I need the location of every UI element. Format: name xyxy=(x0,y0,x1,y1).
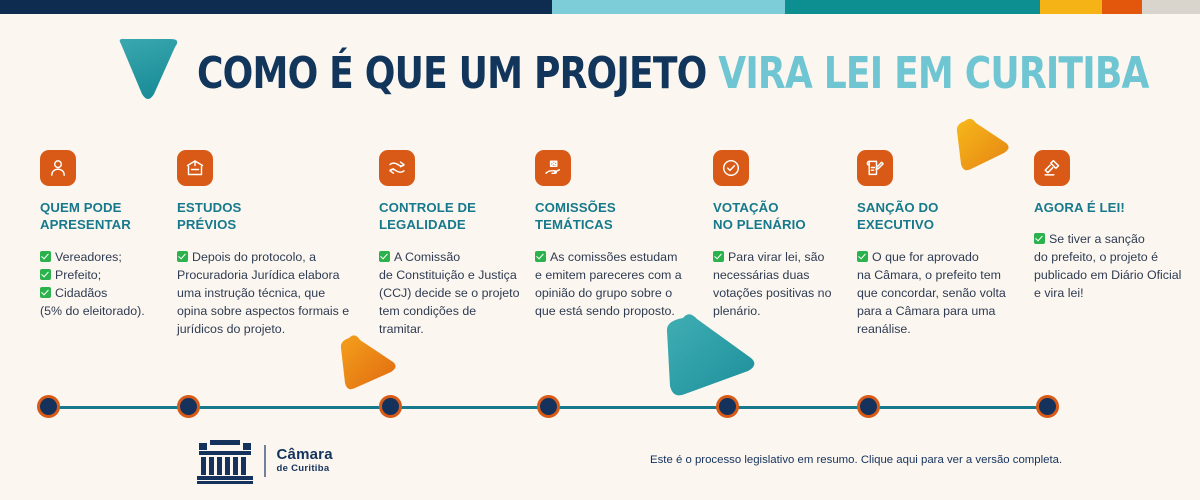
step-title-1: QUEM PODE APRESENTAR xyxy=(40,199,168,234)
topbar-segment-orange xyxy=(1102,0,1142,14)
page-title: COMO É QUE UM PROJETO VIRA LEI EM CURITI… xyxy=(197,52,1149,96)
step-body-5: Para virar lei, sãonecessárias duas vota… xyxy=(713,249,841,321)
step-body-1: Vereadores;Prefeito;Cidadãos (5% do elei… xyxy=(40,249,168,321)
footer-note[interactable]: Este é o processo legislativo em resumo.… xyxy=(650,454,1062,466)
camara-building-icon xyxy=(197,437,253,485)
check-icon xyxy=(535,251,546,262)
step-bullet: Prefeito; xyxy=(40,267,168,285)
topbar-segment-navy xyxy=(0,0,552,14)
step-body-continuation: necessárias duas votações positivas no p… xyxy=(713,267,841,321)
top-color-bar xyxy=(0,0,1200,14)
step-body-6: O que for aprovadona Câmara, o prefeito … xyxy=(857,249,1017,339)
timeline-dot-4 xyxy=(537,395,560,418)
scales-handshake-icon xyxy=(379,150,415,186)
page-title-part1: COMO É QUE UM PROJETO xyxy=(197,48,706,99)
step-bullet: As comissões estudam xyxy=(535,249,695,267)
step-bullet-text: Depois do protocolo, a xyxy=(192,250,316,264)
timeline-dot-5 xyxy=(716,395,739,418)
step-body-continuation: de Constituição e Justiça (CCJ) decide s… xyxy=(379,267,521,339)
timeline-dot-2 xyxy=(177,395,200,418)
step-bullet: Se tiver a sanção xyxy=(1034,231,1184,249)
check-icon xyxy=(1034,233,1045,244)
step-body-7: Se tiver a sançãodo prefeito, o projeto … xyxy=(1034,231,1184,303)
topbar-segment-light-teal xyxy=(552,0,785,14)
document-pen-icon xyxy=(857,150,893,186)
step-title-5: VOTAÇÃO NO PLENÁRIO xyxy=(713,199,841,234)
logo-divider xyxy=(264,445,266,477)
timeline xyxy=(0,395,1200,419)
steps-container: QUEM PODE APRESENTARVereadores;Prefeito;… xyxy=(0,150,1200,350)
timeline-dot-6 xyxy=(857,395,880,418)
hand-document-icon xyxy=(535,150,571,186)
logo-name-line1: Câmara xyxy=(277,447,333,464)
step-body-continuation: do prefeito, o projeto é publicado em Di… xyxy=(1034,249,1184,303)
check-icon xyxy=(713,251,724,262)
topbar-segment-yellow xyxy=(1040,0,1102,14)
timeline-dot-3 xyxy=(379,395,402,418)
step-bullet-text: As comissões estudam xyxy=(550,250,677,264)
step-column-5: VOTAÇÃO NO PLENÁRIOPara virar lei, sãone… xyxy=(713,150,841,321)
logo-name-line2: de Curitiba xyxy=(277,464,333,475)
topbar-segment-light-gray xyxy=(1142,0,1200,14)
step-column-3: CONTROLE DE LEGALIDADEA Comissãode Const… xyxy=(379,150,521,339)
step-bullet-text: A Comissão xyxy=(394,250,460,264)
step-bullet-text: Cidadãos (5% do eleitorado). xyxy=(40,286,145,318)
step-title-6: SANÇÃO DO EXECUTIVO xyxy=(857,199,1017,234)
check-icon xyxy=(177,251,188,262)
step-body-4: As comissões estudame emitem pareceres c… xyxy=(535,249,695,321)
step-body-3: A Comissãode Constituição e Justiça (CCJ… xyxy=(379,249,521,339)
page-title-part2: VIRA LEI EM CURITIBA xyxy=(718,48,1148,99)
step-bullet: Depois do protocolo, a xyxy=(177,249,357,267)
step-body-continuation: e emitem pareceres com a opinião do grup… xyxy=(535,267,695,321)
step-bullet: O que for aprovado xyxy=(857,249,1017,267)
step-title-7: AGORA É LEI! xyxy=(1034,199,1184,216)
step-title-4: COMISSÕES TEMÁTICAS xyxy=(535,199,695,234)
person-icon xyxy=(40,150,76,186)
step-column-1: QUEM PODE APRESENTARVereadores;Prefeito;… xyxy=(40,150,168,321)
step-column-6: SANÇÃO DO EXECUTIVOO que for aprovadona … xyxy=(857,150,1017,339)
step-bullet-text: O que for aprovado xyxy=(872,250,979,264)
topbar-segment-teal xyxy=(785,0,1040,14)
step-column-4: COMISSÕES TEMÁTICASAs comissões estudame… xyxy=(535,150,695,321)
step-title-3: CONTROLE DE LEGALIDADE xyxy=(379,199,521,234)
check-icon xyxy=(40,269,51,280)
step-body-continuation: na Câmara, o prefeito tem que concordar,… xyxy=(857,267,1017,339)
step-bullet: A Comissão xyxy=(379,249,521,267)
triangle-teal-top-left-icon xyxy=(113,38,183,102)
step-bullet-text: Vereadores; xyxy=(55,250,122,264)
timeline-dot-1 xyxy=(37,395,60,418)
step-column-2: ESTUDOS PRÉVIOSDepois do protocolo, aPro… xyxy=(177,150,357,339)
check-circle-icon xyxy=(713,150,749,186)
step-bullet: Para virar lei, são xyxy=(713,249,841,267)
camara-logo: Câmara de Curitiba xyxy=(197,437,333,485)
step-bullet: Vereadores; xyxy=(40,249,168,267)
step-column-7: AGORA É LEI!Se tiver a sançãodo prefeito… xyxy=(1034,150,1184,303)
step-bullet: Cidadãos (5% do eleitorado). xyxy=(40,285,168,321)
step-bullet-text: Se tiver a sanção xyxy=(1049,232,1145,246)
gavel-icon xyxy=(1034,150,1070,186)
check-icon xyxy=(40,251,51,262)
step-title-2: ESTUDOS PRÉVIOS xyxy=(177,199,357,234)
check-icon xyxy=(40,287,51,298)
step-body-2: Depois do protocolo, aProcuradoria Juríd… xyxy=(177,249,357,339)
step-bullet-text: Prefeito; xyxy=(55,268,101,282)
check-icon xyxy=(379,251,390,262)
archive-building-icon xyxy=(177,150,213,186)
step-body-continuation: Procuradoria Jurídica elabora uma instru… xyxy=(177,267,357,339)
step-bullet-text: Para virar lei, são xyxy=(728,250,824,264)
check-icon xyxy=(857,251,868,262)
timeline-dot-7 xyxy=(1036,395,1059,418)
